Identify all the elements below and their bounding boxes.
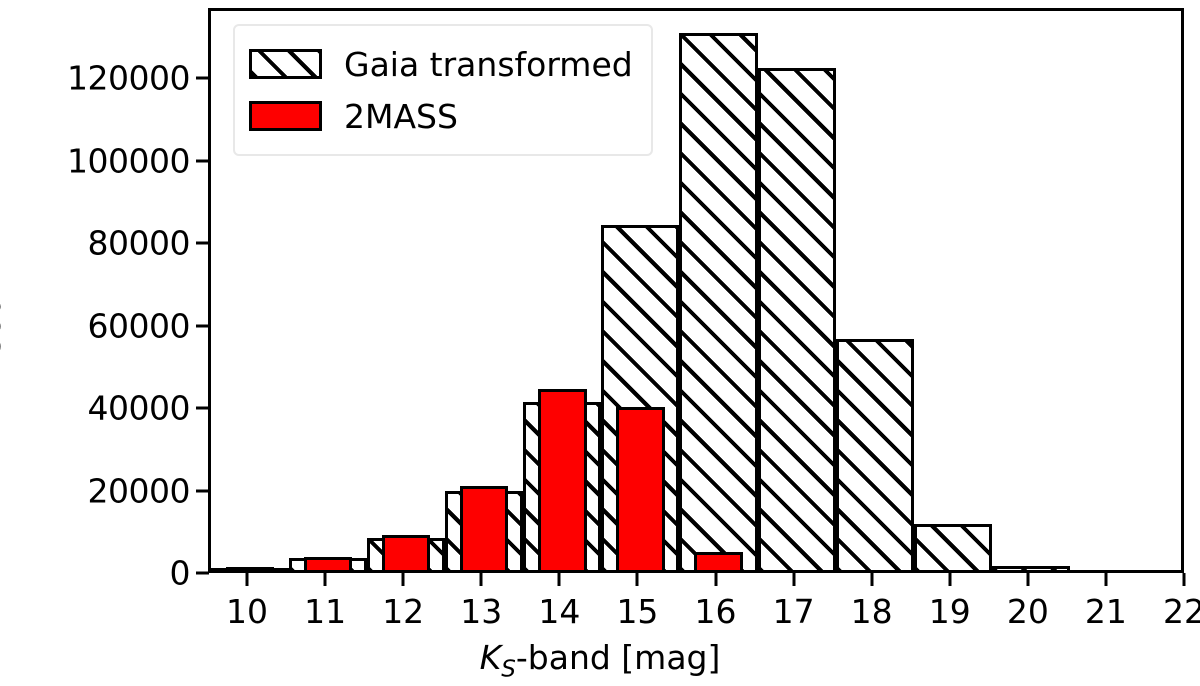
x-axis-label: KS-band [mag] bbox=[0, 638, 1200, 683]
bar-2mass bbox=[304, 557, 352, 573]
x-axis-tick-label: 13 bbox=[460, 592, 502, 631]
x-axis-tick-label: 19 bbox=[929, 592, 971, 631]
x-axis-tick-mark bbox=[1026, 573, 1029, 586]
legend-label-gaia-transformed: Gaia transformed bbox=[344, 45, 633, 84]
plot-area: Gaia transformed 2MASS bbox=[208, 8, 1184, 573]
x-axis-tick-label: 10 bbox=[226, 592, 268, 631]
x-axis-tick-mark bbox=[246, 573, 249, 586]
x-axis-tick-mark bbox=[636, 573, 639, 586]
y-axis-tick-label: 0 bbox=[170, 554, 191, 593]
legend-label-2mass: 2MASS bbox=[344, 97, 458, 136]
bar-gaia-transformed bbox=[914, 524, 992, 573]
legend-item-gaia-transformed[interactable]: Gaia transformed bbox=[249, 38, 633, 90]
y-axis-tick-label: 60000 bbox=[88, 306, 190, 345]
hatched-box-icon bbox=[249, 49, 322, 79]
bar-gaia-transformed bbox=[836, 339, 914, 573]
legend: Gaia transformed 2MASS bbox=[233, 24, 653, 156]
y-axis-tick-label: 100000 bbox=[67, 141, 190, 180]
x-axis-label-symbol: K bbox=[480, 638, 502, 677]
y-axis-tick-label: 40000 bbox=[88, 389, 190, 428]
x-axis-tick-mark bbox=[402, 573, 405, 586]
x-axis-tick-mark bbox=[1104, 573, 1107, 586]
x-axis-tick-label: 18 bbox=[851, 592, 893, 631]
x-axis-tick-mark bbox=[1183, 573, 1186, 586]
y-axis-tick-container: 020000400006000080000100000120000 bbox=[0, 0, 190, 686]
x-axis-tick-label: 22 bbox=[1163, 592, 1200, 631]
x-axis-tick-mark bbox=[948, 573, 951, 586]
x-axis-label-rest: -band [mag] bbox=[516, 638, 721, 677]
x-axis-tick-mark bbox=[870, 573, 873, 586]
x-axis-tick-label: 14 bbox=[538, 592, 580, 631]
x-axis-tick-label: 11 bbox=[304, 592, 346, 631]
bar-2mass bbox=[538, 389, 586, 573]
red-box-icon bbox=[249, 101, 322, 131]
y-axis-tick-label: 20000 bbox=[88, 471, 190, 510]
x-axis-tick-mark bbox=[792, 573, 795, 586]
bar-gaia-transformed bbox=[758, 68, 836, 573]
y-axis-tick-label: 80000 bbox=[88, 224, 190, 263]
bar-2mass bbox=[460, 486, 508, 573]
x-axis-tick-label: 12 bbox=[382, 592, 424, 631]
x-axis-tick-mark bbox=[480, 573, 483, 586]
x-axis-tick-label: 20 bbox=[1007, 592, 1049, 631]
bar-2mass bbox=[616, 407, 664, 573]
x-axis-tick-mark bbox=[714, 573, 717, 586]
x-axis-tick-mark bbox=[558, 573, 561, 586]
bar-2mass bbox=[694, 552, 742, 573]
bar-2mass bbox=[226, 567, 274, 573]
bar-2mass bbox=[382, 535, 430, 573]
y-axis-tick-label: 120000 bbox=[67, 59, 190, 98]
bar-gaia-transformed bbox=[992, 566, 1070, 573]
x-axis-tick-label: 17 bbox=[773, 592, 815, 631]
bar-gaia-transformed bbox=[1070, 570, 1148, 573]
bar-gaia-transformed bbox=[679, 33, 757, 573]
x-axis-label-subscript: S bbox=[501, 657, 516, 683]
x-axis-tick-label: 21 bbox=[1085, 592, 1127, 631]
x-axis-tick-mark bbox=[324, 573, 327, 586]
legend-item-2mass[interactable]: 2MASS bbox=[249, 90, 633, 142]
figure-canvas: Count 020000400006000080000100000120000 … bbox=[0, 0, 1200, 686]
x-axis-tick-label: 16 bbox=[695, 592, 737, 631]
x-axis-tick-label: 15 bbox=[616, 592, 658, 631]
